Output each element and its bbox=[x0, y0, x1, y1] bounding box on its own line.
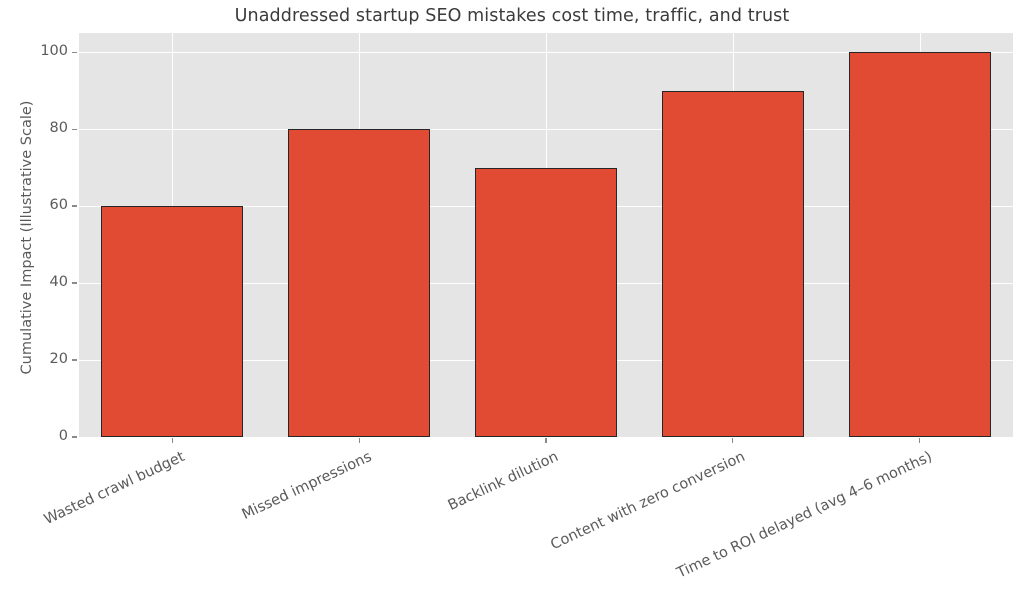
y-tick-mark bbox=[72, 129, 77, 130]
y-tick-mark bbox=[72, 436, 77, 437]
y-tick-label: 100 bbox=[8, 43, 68, 59]
x-tick-mark bbox=[359, 438, 360, 443]
bar bbox=[101, 206, 243, 437]
plot-area bbox=[79, 33, 1013, 437]
y-tick-label: 40 bbox=[8, 274, 68, 290]
x-tick-label: Wasted crawl budget bbox=[42, 448, 188, 529]
x-tick-mark bbox=[919, 438, 920, 443]
x-tick-label: Content with zero conversion bbox=[548, 448, 748, 554]
bar bbox=[662, 91, 804, 437]
y-tick-label: 0 bbox=[8, 428, 68, 444]
x-tick-mark bbox=[172, 438, 173, 443]
y-tick-label-wrap: 0 bbox=[0, 428, 68, 446]
x-tick-label: Missed impressions bbox=[239, 448, 374, 524]
y-tick-label-wrap: 40 bbox=[0, 274, 68, 292]
x-tick-mark bbox=[545, 438, 546, 443]
bar bbox=[475, 168, 617, 437]
chart-title: Unaddressed startup SEO mistakes cost ti… bbox=[0, 6, 1024, 26]
y-axis-label: Cumulative Impact (Illustrative Scale) bbox=[16, 35, 38, 440]
y-tick-label: 80 bbox=[8, 120, 68, 136]
y-tick-mark bbox=[72, 359, 77, 360]
x-tick-mark bbox=[732, 438, 733, 443]
y-tick-label-wrap: 60 bbox=[0, 197, 68, 215]
x-tick-label: Backlink dilution bbox=[446, 448, 562, 515]
y-tick-mark bbox=[72, 282, 77, 283]
y-tick-label: 60 bbox=[8, 197, 68, 213]
y-tick-mark bbox=[72, 52, 77, 53]
y-tick-label-wrap: 80 bbox=[0, 120, 68, 138]
bar-chart-figure: Unaddressed startup SEO mistakes cost ti… bbox=[0, 0, 1024, 616]
bar bbox=[849, 52, 991, 437]
y-tick-label: 20 bbox=[8, 351, 68, 367]
y-tick-label-wrap: 20 bbox=[0, 351, 68, 369]
bar bbox=[288, 129, 430, 437]
y-tick-mark bbox=[72, 205, 77, 206]
y-tick-label-wrap: 100 bbox=[0, 43, 68, 61]
